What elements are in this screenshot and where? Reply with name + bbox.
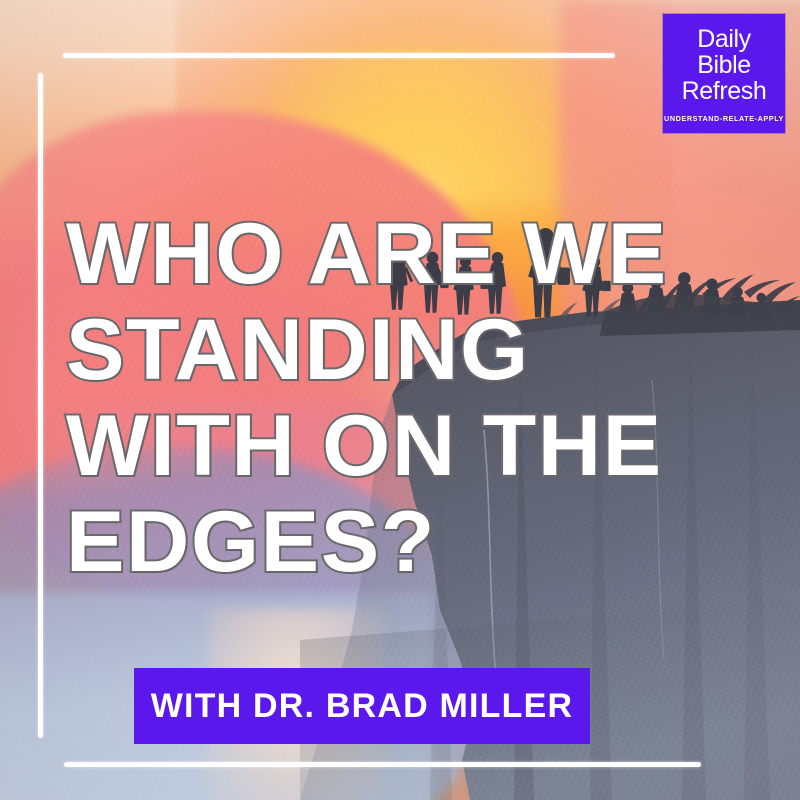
title-line-1: WHO ARE WE <box>66 206 760 302</box>
title-line-2: STANDING <box>66 302 760 398</box>
bottom-horizontal-rule <box>64 762 701 767</box>
cover-art-canvas: Daily Bible Refresh UNDERSTAND-RELATE-AP… <box>0 0 800 800</box>
episode-title: WHO ARE WE STANDING WITH ON THE EDGES? <box>66 206 760 590</box>
logo-line-2: Bible <box>682 52 767 78</box>
logo-wordmark: Daily Bible Refresh <box>682 26 767 104</box>
left-vertical-rule <box>38 73 43 738</box>
daily-bible-refresh-logo[interactable]: Daily Bible Refresh UNDERSTAND-RELATE-AP… <box>663 14 785 133</box>
logo-tagline: UNDERSTAND-RELATE-APPLY <box>664 114 784 123</box>
title-line-4: EDGES? <box>66 494 760 590</box>
logo-line-1: Daily <box>682 26 767 52</box>
top-horizontal-rule <box>63 53 615 58</box>
title-line-3: WITH ON THE <box>66 398 760 494</box>
speaker-name: WITH DR. BRAD MILLER <box>151 687 574 726</box>
logo-line-3: Refresh <box>682 78 767 104</box>
speaker-banner: WITH DR. BRAD MILLER <box>134 668 590 744</box>
